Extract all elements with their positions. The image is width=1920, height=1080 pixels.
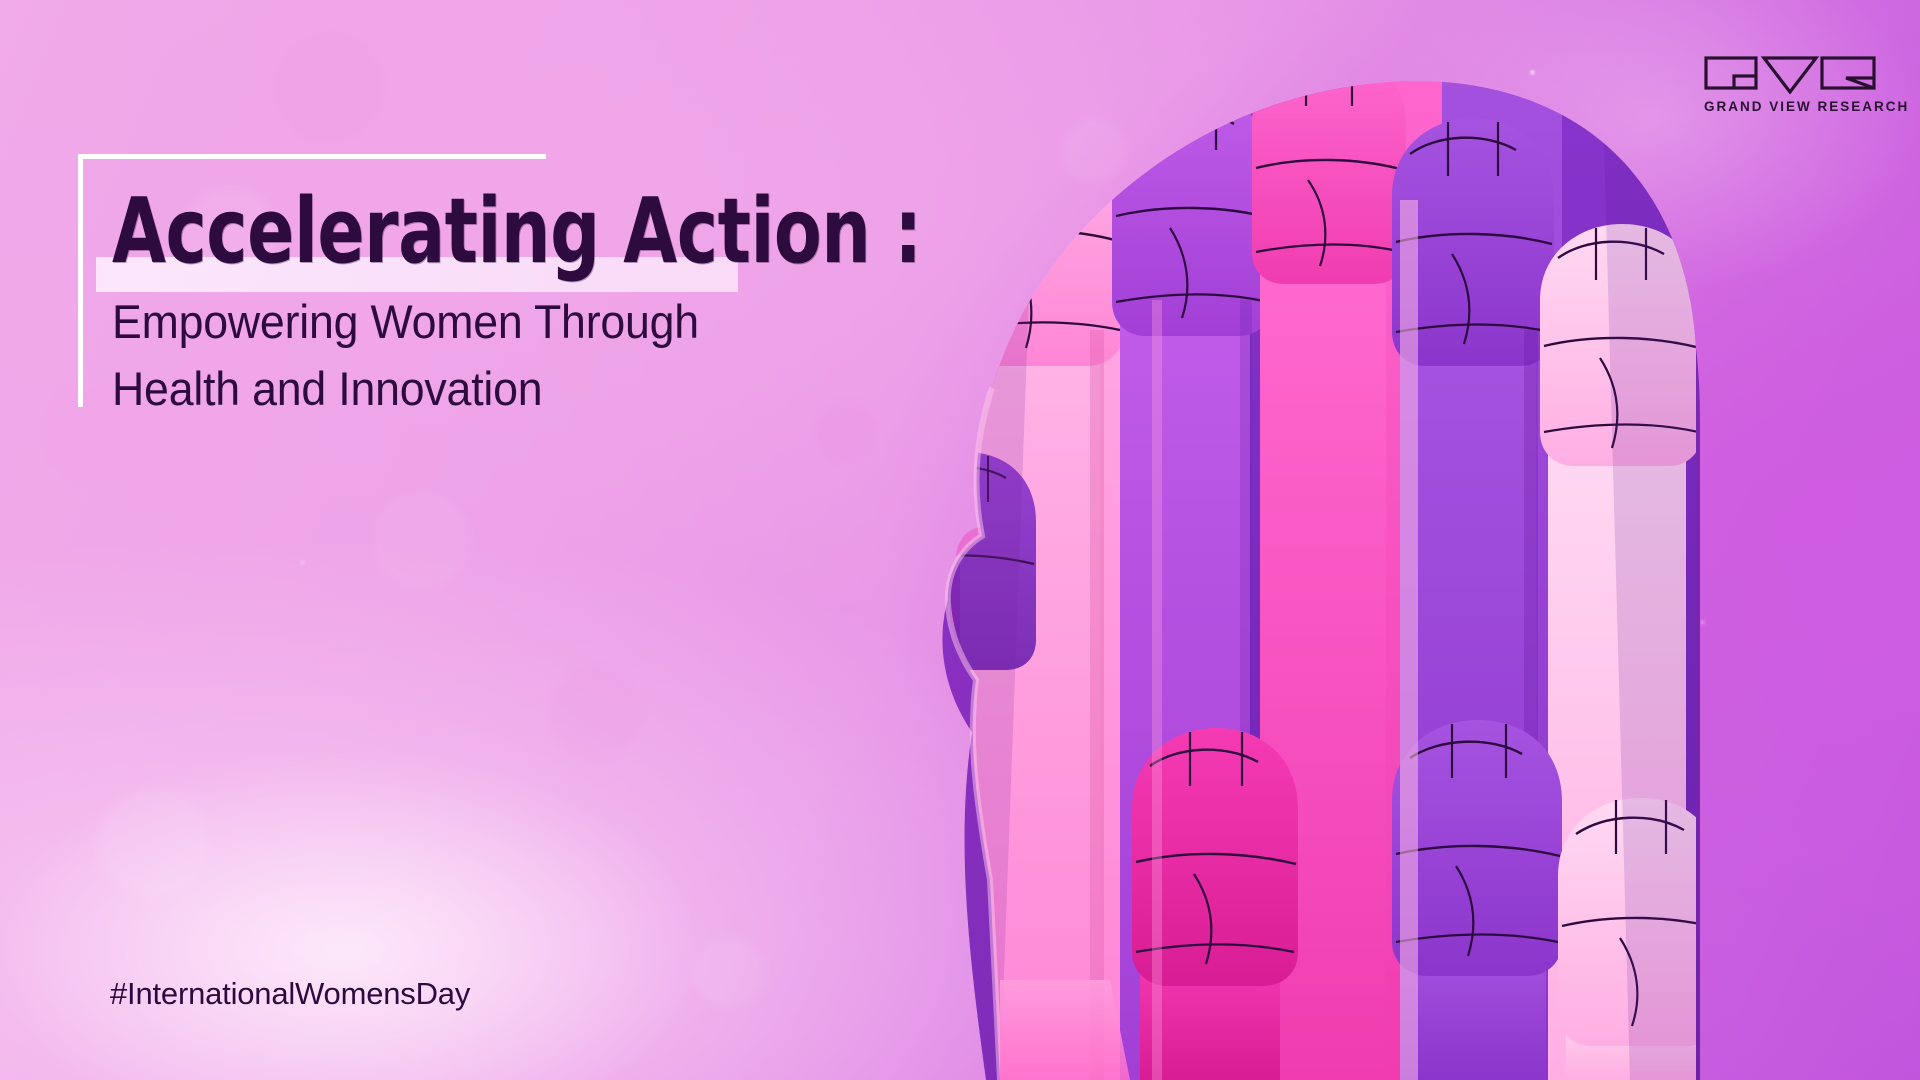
sparkle-dot (1700, 620, 1705, 625)
hashtag-label: #InternationalWomensDay (110, 976, 470, 1012)
page-subtitle-line-2: Health and Innovation (112, 355, 777, 422)
page-subtitle: Empowering Women Through Health and Inno… (112, 288, 777, 422)
brand-wordmark: GRAND VIEW RESEARCH (1704, 99, 1876, 114)
decorative-bracket-horizontal (78, 154, 546, 159)
gvr-monogram-icon (1704, 52, 1876, 94)
illustration-paper-cut-fists (700, 0, 1700, 1080)
banner-canvas: Accelerating Action : Empowering Women T… (0, 0, 1920, 1080)
sparkle-dot (300, 560, 305, 565)
page-subtitle-line-1: Empowering Women Through (112, 288, 777, 355)
decorative-bracket-vertical (78, 154, 83, 407)
brand-logo[interactable]: GRAND VIEW RESEARCH (1704, 52, 1876, 114)
page-title: Accelerating Action : (112, 186, 922, 278)
